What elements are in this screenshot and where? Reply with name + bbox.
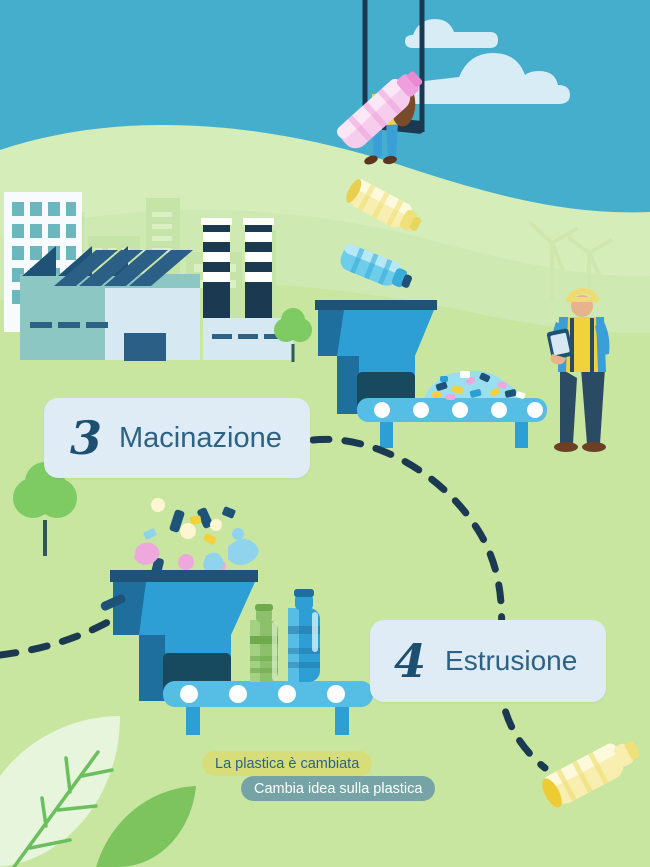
caption-pill-cambia-idea: Cambia idea sulla plastica: [241, 776, 435, 801]
caption-pill-plastica-cambiata: La plastica è cambiata: [202, 751, 372, 776]
step-label-estrusione: Estrusione: [445, 645, 577, 677]
step-number-3: 3: [70, 415, 101, 461]
infographic-canvas: 3 Macinazione 4 Estrusione La plastica è…: [0, 0, 650, 867]
step-number-4: 4: [394, 638, 425, 684]
factory-wall-bands: [30, 322, 108, 328]
step-card-estrusione[interactable]: 4 Estrusione: [370, 620, 606, 702]
step-label-macinazione: Macinazione: [119, 422, 282, 455]
step-card-macinazione[interactable]: 3 Macinazione: [44, 398, 310, 478]
factory-annex-bands: [212, 334, 284, 339]
factory-door: [124, 333, 166, 361]
